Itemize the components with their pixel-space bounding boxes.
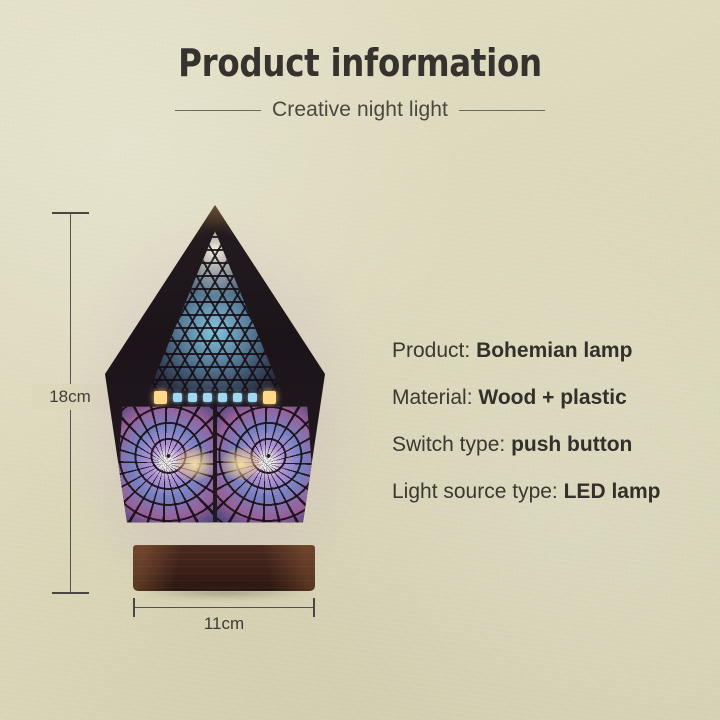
page-title: Product information	[18, 44, 702, 82]
divider-dot	[233, 393, 242, 402]
mosaic-dot-divider	[154, 391, 276, 404]
spec-label: Switch type:	[392, 433, 505, 456]
spec-label: Product:	[392, 339, 470, 362]
spec-row-switch-type: Switch type: push button	[392, 434, 704, 455]
right-rose-window-panel	[217, 401, 313, 541]
divider-dot	[218, 393, 227, 402]
height-tick-top	[52, 212, 89, 214]
warm-highlight	[221, 447, 261, 481]
spec-value: LED lamp	[564, 480, 661, 503]
subtitle-rule-right	[459, 110, 545, 111]
divider-dot	[173, 393, 182, 402]
warm-highlight	[175, 447, 213, 481]
spec-value: Bohemian lamp	[476, 339, 632, 362]
width-dimension-label: 11cm	[93, 614, 355, 634]
spec-list: Product: Bohemian lamp Material: Wood + …	[392, 340, 704, 502]
spec-value: Wood + plastic	[478, 386, 626, 409]
divider-dot	[263, 391, 276, 404]
spec-label: Material:	[392, 386, 473, 409]
left-rose-window-panel	[117, 401, 213, 541]
page-subtitle: Creative night light	[272, 98, 448, 122]
spec-value: push button	[511, 433, 632, 456]
divider-dot	[154, 391, 167, 404]
spec-row-material: Material: Wood + plastic	[392, 387, 704, 408]
wooden-base	[133, 545, 315, 591]
base-shadow	[140, 588, 308, 598]
spec-row-product: Product: Bohemian lamp	[392, 340, 704, 361]
spec-row-light-source-type: Light source type: LED lamp	[392, 481, 704, 502]
spec-label: Light source type:	[392, 480, 558, 503]
subtitle-rule-left	[175, 110, 261, 111]
product-info-page: Product information Creative night light…	[0, 0, 720, 720]
product-photo	[100, 205, 330, 595]
divider-dot	[248, 393, 257, 402]
subtitle-row: Creative night light	[0, 98, 720, 122]
divider-dot	[188, 393, 197, 402]
divider-dot	[203, 393, 212, 402]
height-tick-bottom	[52, 592, 89, 594]
width-dimension-line: 11cm	[133, 607, 315, 608]
header: Product information Creative night light	[0, 44, 720, 122]
